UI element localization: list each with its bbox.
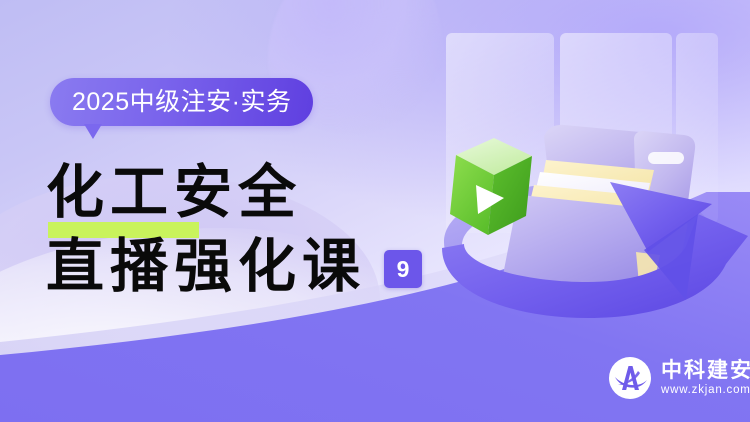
course-badge-label: 2025中级注安·实务 — [72, 90, 291, 115]
folder-illustration — [398, 0, 750, 360]
poster-title: 化工安全 直播强化课 9 — [46, 155, 446, 303]
course-badge: 2025中级注安·实务 — [50, 78, 313, 126]
title-line-2: 直播强化课 — [46, 229, 366, 303]
course-badge-tail — [84, 124, 102, 139]
brand-logo-text: 中科建安 www.zkjan.com — [661, 359, 750, 398]
brand-url: www.zkjan.com — [661, 383, 750, 398]
brand-name: 中科建安 — [661, 359, 750, 382]
title-line-2-row: 直播强化课 9 — [46, 229, 446, 303]
title-line-1: 化工安全 — [46, 155, 446, 229]
brand-logo: 中科建安 www.zkjan.com — [608, 356, 750, 400]
episode-number-badge: 9 — [384, 250, 422, 288]
zkjan-logo-icon — [608, 356, 652, 400]
course-poster: 2025中级注安·实务 化工安全 直播强化课 9 中科建安 www.zkjan.… — [0, 0, 750, 422]
